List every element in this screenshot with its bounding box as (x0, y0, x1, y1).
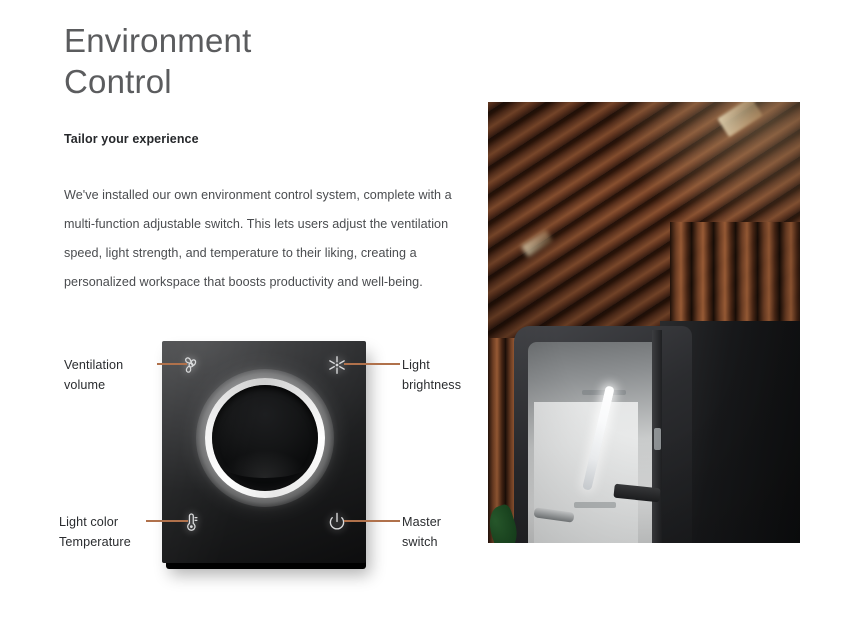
photo-content (488, 102, 800, 543)
body-paragraph: We've installed our own environment cont… (64, 181, 476, 297)
callout-label-master-switch: Master switch (402, 512, 498, 552)
leader-line-master-switch (344, 520, 400, 522)
environment-control-diagram: Ventilation volume Light brightness Ligh… (0, 335, 500, 585)
power-icon[interactable] (326, 511, 348, 533)
page-title: Environment Control (64, 20, 444, 102)
leader-line-ventilation (157, 363, 187, 365)
callout-label-color-temperature: Light color Temperature (59, 512, 163, 552)
dial-highlight (221, 450, 309, 478)
document-page: Environment Control Tailor your experien… (0, 0, 860, 621)
callout-label-brightness: Light brightness (402, 355, 502, 395)
brightness-icon[interactable] (326, 354, 348, 376)
leader-line-brightness (344, 363, 400, 365)
section-subheading: Tailor your experience (64, 132, 199, 146)
thermometer-icon[interactable] (181, 511, 203, 533)
callout-label-ventilation: Ventilation volume (64, 355, 160, 395)
pod-vent-lower (574, 502, 616, 508)
office-pod-photograph (488, 102, 800, 543)
pod-door-hinge (654, 428, 661, 450)
rotary-dial[interactable] (205, 378, 325, 498)
fan-icon[interactable] (180, 354, 202, 376)
control-panel[interactable] (162, 341, 366, 563)
